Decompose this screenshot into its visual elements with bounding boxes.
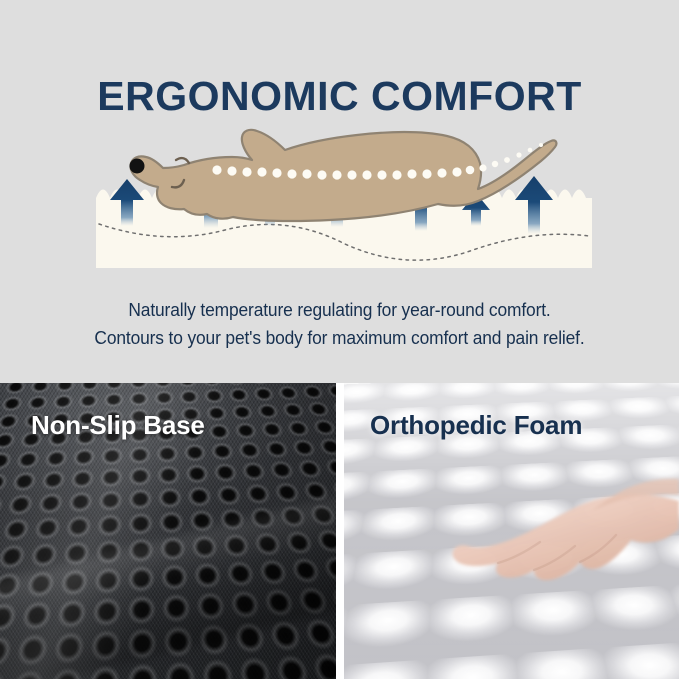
hero-panel: ERGONOMIC COMFORT [0, 0, 679, 381]
panel-label-orthopedic-foam: Orthopedic Foam [370, 410, 582, 441]
ergonomic-support-illustration [0, 108, 679, 283]
caption-line-1: Naturally temperature regulating for yea… [20, 296, 658, 324]
panel-orthopedic-foam: Orthopedic Foam [344, 383, 679, 679]
panel-label-non-slip-base: Non-Slip Base [31, 410, 205, 441]
dog-closed-eye [176, 158, 189, 163]
product-feature-infographic: ERGONOMIC COMFORT [0, 0, 679, 679]
caption-line-2: Contours to your pet's body for maximum … [20, 324, 658, 352]
dog-nose [130, 159, 145, 174]
caption-block: Naturally temperature regulating for yea… [0, 296, 679, 352]
panel-non-slip-base: Non-Slip Base [0, 383, 336, 679]
feature-panels: Non-Slip Base [0, 383, 679, 679]
